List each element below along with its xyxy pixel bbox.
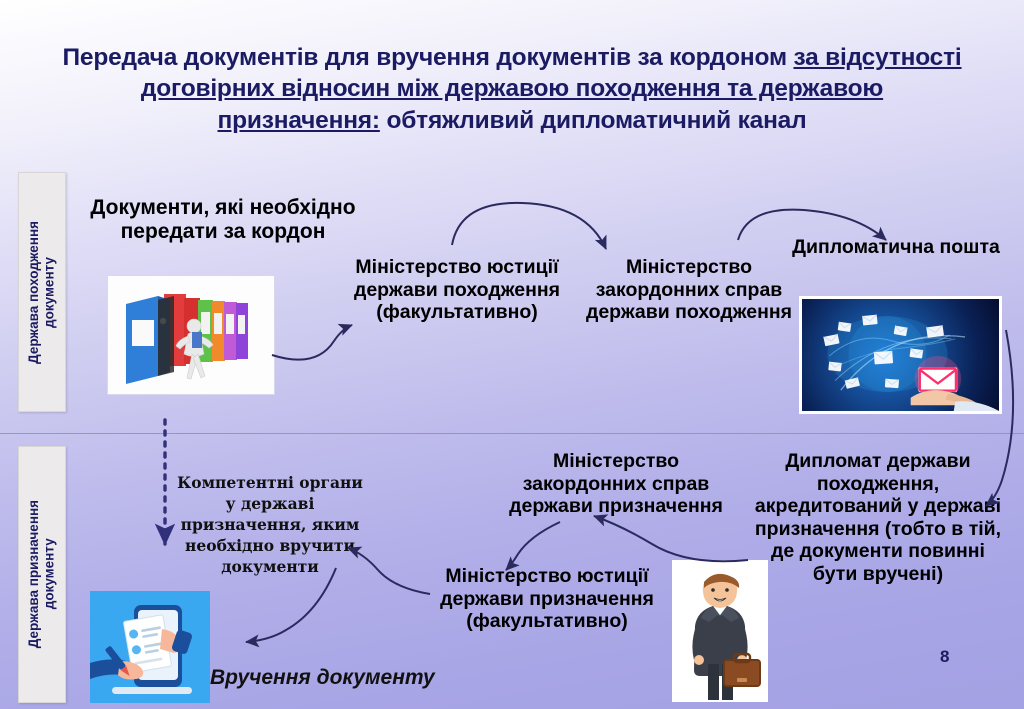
- band-label-origin-text: Держава походження документу: [26, 221, 57, 364]
- page-number: 8: [940, 647, 949, 667]
- arrow-competent-to-delivery: [246, 568, 336, 642]
- diplomatic-mail-artwork: [802, 299, 999, 411]
- band-label-destination-text: Держава призначення документу: [26, 500, 57, 648]
- binders-image: [107, 275, 275, 395]
- node-ministry-justice-origin: Міністерство юстиції держави походження …: [352, 256, 562, 324]
- title-part-2: обтяжливий дипломатичний канал: [380, 107, 807, 134]
- page-title: Передача документів для вручення докумен…: [62, 42, 962, 136]
- node-ministry-foreign-destination: Міністерство закордонних справ держави п…: [500, 450, 732, 518]
- arrow-docs-to-minjust: [272, 325, 352, 360]
- document-delivery-image: [90, 591, 210, 703]
- title-part-1: Передача документів для вручення докумен…: [62, 44, 793, 71]
- slide-canvas: Передача документів для вручення докумен…: [0, 0, 1024, 709]
- arrow-mfa-to-minjust-destination: [506, 522, 560, 570]
- band-label-destination: Держава призначення документу: [18, 446, 66, 703]
- delivery-caption: Вручення документу: [210, 666, 460, 690]
- arrow-minjust-to-mfa: [452, 203, 606, 249]
- binders-artwork: [108, 276, 274, 394]
- lane-divider: [0, 433, 1024, 434]
- document-delivery-artwork: [90, 591, 210, 703]
- node-diplomatic-mail: Дипломатична пошта: [790, 236, 1002, 259]
- node-ministry-justice-destination: Міністерство юстиції держави призначення…: [412, 565, 682, 633]
- arrow-diplomat-to-mfa: [594, 516, 748, 561]
- node-competent-authorities: Компетентні органи у державі призначення…: [172, 472, 368, 577]
- band-label-origin: Держава походження документу: [18, 172, 66, 412]
- diplomatic-mail-image: [799, 296, 1002, 414]
- node-diplomat: Дипломат держави походження, акредитован…: [748, 450, 1008, 586]
- node-documents-to-send: Документи, які необхідно передати за кор…: [78, 196, 368, 245]
- node-ministry-foreign-origin: Міністерство закордонних справ держави п…: [580, 256, 798, 324]
